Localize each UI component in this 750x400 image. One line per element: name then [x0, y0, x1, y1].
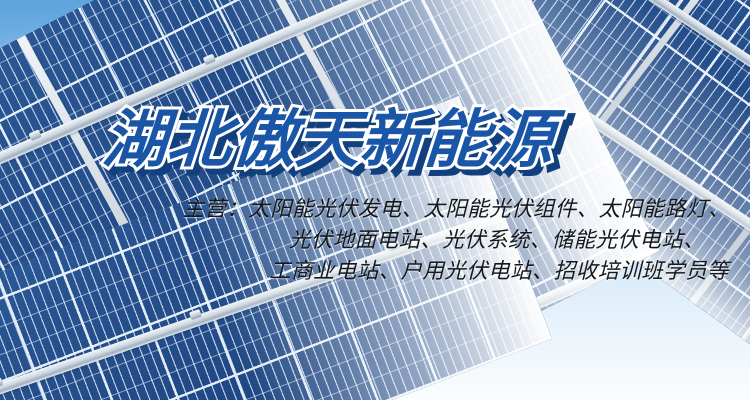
solar-company-banner: 湖北傲天新能源 湖北傲天新能源 湖北傲天新能源 主营：太阳能光伏发电、太阳能光伏…	[0, 0, 750, 400]
